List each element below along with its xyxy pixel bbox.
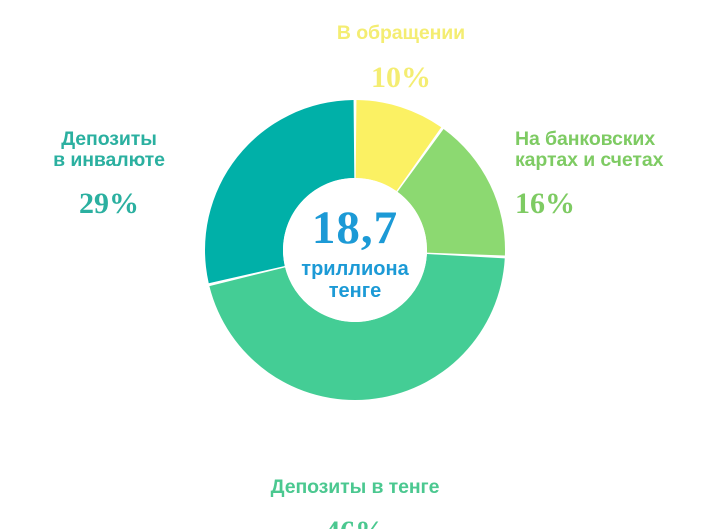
slice-label-tenge-deposits: Депозиты в тенге 46% [205,460,505,529]
slice-label-cards: На банковских картах и счетах 16% [515,112,705,237]
donut-chart-infographic: 18,7 триллиона тенге В обращении 10% На … [0,0,705,529]
slice-label-cards-percent: 16% [515,188,705,220]
slice-label-fx-deposits: Депозиты в инвалюте 29% [14,112,204,237]
slice-label-circulation-name: В обращении [286,23,516,44]
slice-label-circulation: В обращении 10% [286,6,516,110]
slice-label-cards-name: На банковских картах и счетах [515,129,705,170]
slice-label-fx-deposits-percent: 29% [14,188,204,220]
slice-label-tenge-deposits-percent: 46% [205,516,505,529]
slice-label-circulation-percent: 10% [286,62,516,94]
donut-center-hole [283,178,427,322]
slice-label-fx-deposits-name: Депозиты в инвалюте [14,129,204,170]
slice-label-tenge-deposits-name: Депозиты в тенге [205,477,505,498]
